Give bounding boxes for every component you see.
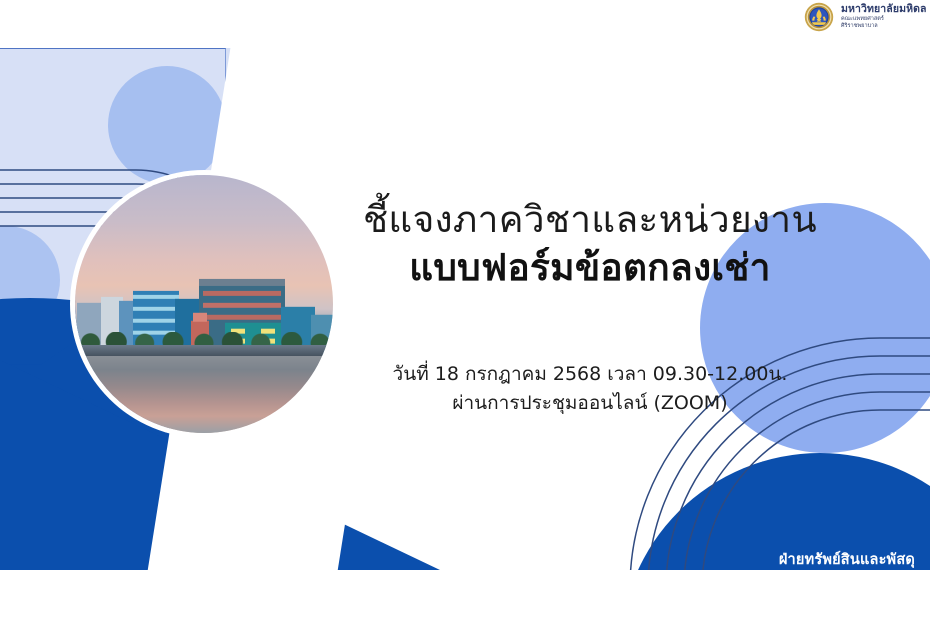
meta-date-time: วันที่ 18 กรกฎาคม 2568 เวลา 09.30-12.00น… [330,360,850,389]
university-name: มหาวิทยาลัยมหิดล [841,4,927,15]
title-line-1: ชี้แจงภาควิชาและหน่วยงาน [330,198,850,242]
presentation-slide: ชี้แจงภาควิชาและหน่วยงาน แบบฟอร์มข้อตกลง… [0,48,930,570]
siriraj-hospital-photo [75,175,333,433]
slide-viewer: ชี้แจงภาควิชาและหน่วยงาน แบบฟอร์มข้อตกลง… [0,0,930,620]
slide-meta: วันที่ 18 กรกฎาคม 2568 เวลา 09.30-12.00น… [330,360,850,419]
title-line-2: แบบฟอร์มข้อตกลงเช่า [330,246,850,290]
photo-riverbank [75,345,333,355]
faculty-name-line-1: คณะแพทยศาสตร์ [841,17,927,23]
faculty-name-line-2: ศิริราชพยาบาล [841,24,927,30]
slide-title: ชี้แจงภาควิชาและหน่วยงาน แบบฟอร์มข้อตกลง… [330,198,850,289]
footer-department-label: ฝ่ายทรัพย์สินและพัสดุ [740,548,915,570]
university-logo-text: มหาวิทยาลัยมหิดล คณะแพทยศาสตร์ ศิริราชพย… [841,4,927,29]
university-seal-icon [804,2,834,32]
university-logo: มหาวิทยาลัยมหิดล คณะแพทยศาสตร์ ศิริราชพย… [804,2,927,32]
meta-channel: ผ่านการประชุมออนไลน์ (ZOOM) [330,389,850,418]
photo-river [75,356,333,433]
